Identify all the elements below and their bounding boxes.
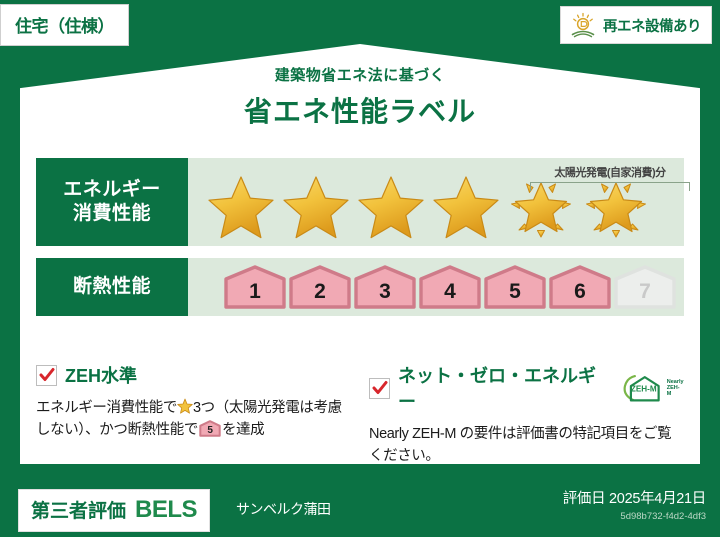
insulation-level-number: 3 (354, 265, 416, 309)
criterion-body: エネルギー消費性能で3つ（太陽光発電は考慮しない）、かつ断熱性能で5を達成 (36, 397, 351, 442)
criterion-body: Nearly ZEH-M の要件は評価書の特記項目をご覧ください。 (369, 423, 684, 468)
evaluation-info: 評価日 2025年4月21日 5d98b732-f4d2-4df3 (563, 487, 706, 522)
energy-performance-label: 住宅（住棟） 再エネ設備あり 建築物省エネ法に基づく 省エネ性能ラベル (0, 0, 720, 537)
star-filled (206, 173, 276, 239)
bels-en-label: BELS (135, 496, 197, 524)
insulation-level-item: 5 (484, 265, 546, 309)
star-filled (431, 173, 501, 239)
criterion-title: ネット・ゼロ・エネルギー (398, 362, 609, 414)
energy-performance-row: エネルギー 消費性能 (36, 158, 684, 246)
criterion-header: ZEH水準 (36, 362, 351, 388)
evaluation-date: 評価日 2025年4月21日 (563, 487, 706, 508)
criterion-text-stars: 3つ（太陽光発電 (193, 400, 299, 416)
insulation-level-item: 4 (419, 265, 481, 309)
renewable-energy-badge: 再エネ設備あり (560, 6, 712, 44)
criterion-title: ZEH水準 (65, 362, 137, 388)
star-rating (188, 165, 651, 239)
energy-label-line2: 消費性能 (73, 202, 151, 226)
rating-rows: エネルギー 消費性能 (36, 158, 684, 316)
insulation-level-item-inactive: 7 (614, 265, 676, 309)
criterion-zeh-standard: ZEH水準 エネルギー消費性能で3つ（太陽光発電は考慮しない）、かつ断熱性能で5… (36, 362, 351, 468)
insulation-level-scale: 1 2 3 4 5 (188, 265, 676, 309)
insulation-level-number: 5 (484, 265, 546, 309)
star-filled (356, 173, 426, 239)
insulation-performance-row: 断熱性能 1 2 3 (36, 258, 684, 316)
insulation-label: 断熱性能 (73, 275, 151, 299)
zeh-m-sub-line2: ZEH-M (667, 385, 680, 397)
inline-insulation-level-icon: 5 (199, 420, 221, 437)
criterion-text-part1: エネルギー消費性能で (36, 400, 177, 416)
insulation-level-number: 4 (419, 265, 481, 309)
zeh-m-logo-subtext: Nearly ZEH-M (667, 379, 684, 397)
bels-jp-label: 第三者評価 (31, 496, 126, 523)
energy-label-line1: エネルギー (63, 178, 161, 202)
insulation-level-number: 2 (289, 265, 351, 309)
insulation-level-item: 1 (224, 265, 286, 309)
insulation-level-item: 3 (354, 265, 416, 309)
star-filled-solar (581, 173, 651, 239)
checkbox-checked-icon (369, 378, 390, 399)
star-filled-solar (506, 173, 576, 239)
evaluation-id: 5d98b732-f4d2-4df3 (563, 511, 706, 522)
bels-certification-box: 第三者評価 BELS (18, 489, 210, 532)
criterion-text-part3: を達成 (222, 422, 264, 438)
star-filled (281, 173, 351, 239)
energy-performance-label-box: エネルギー 消費性能 (36, 158, 188, 246)
renewable-badge-label: 再エネ設備あり (603, 15, 701, 36)
insulation-levels-area: 1 2 3 4 5 (188, 258, 684, 316)
inline-house-number: 5 (199, 420, 221, 437)
criterion-header: ネット・ゼロ・エネルギー ZEH-M Nearly ZEH-M (369, 362, 684, 414)
label-footer: 第三者評価 BELS サンベルク蒲田 評価日 2025年4月21日 5d98b7… (0, 479, 720, 537)
insulation-level-number: 6 (549, 265, 611, 309)
insulation-level-item: 6 (549, 265, 611, 309)
title-main: 省エネ性能ラベル (0, 90, 720, 130)
building-type-tag: 住宅（住棟） (0, 4, 129, 46)
sun-solar-icon (569, 12, 597, 38)
criteria-section: ZEH水準 エネルギー消費性能で3つ（太陽光発電は考慮しない）、かつ断熱性能で5… (36, 362, 684, 468)
project-name: サンベルク蒲田 (236, 499, 331, 519)
zeh-m-logo: ZEH-M Nearly ZEH-M (621, 373, 684, 403)
label-title-block: 建築物省エネ法に基づく 省エネ性能ラベル (0, 64, 720, 130)
checkbox-checked-icon (36, 365, 57, 386)
title-subtitle: 建築物省エネ法に基づく (0, 64, 720, 85)
insulation-performance-label-box: 断熱性能 (36, 258, 188, 316)
svg-text:ZEH-M: ZEH-M (631, 384, 657, 393)
criterion-net-zero-energy: ネット・ゼロ・エネルギー ZEH-M Nearly ZEH-M Nearly Z… (369, 362, 684, 468)
insulation-level-item: 2 (289, 265, 351, 309)
energy-stars-area: 太陽光発電(自家消費)分 (188, 158, 684, 246)
insulation-level-number: 1 (224, 265, 286, 309)
inline-star-icon (177, 398, 193, 414)
insulation-level-number: 7 (614, 265, 676, 309)
